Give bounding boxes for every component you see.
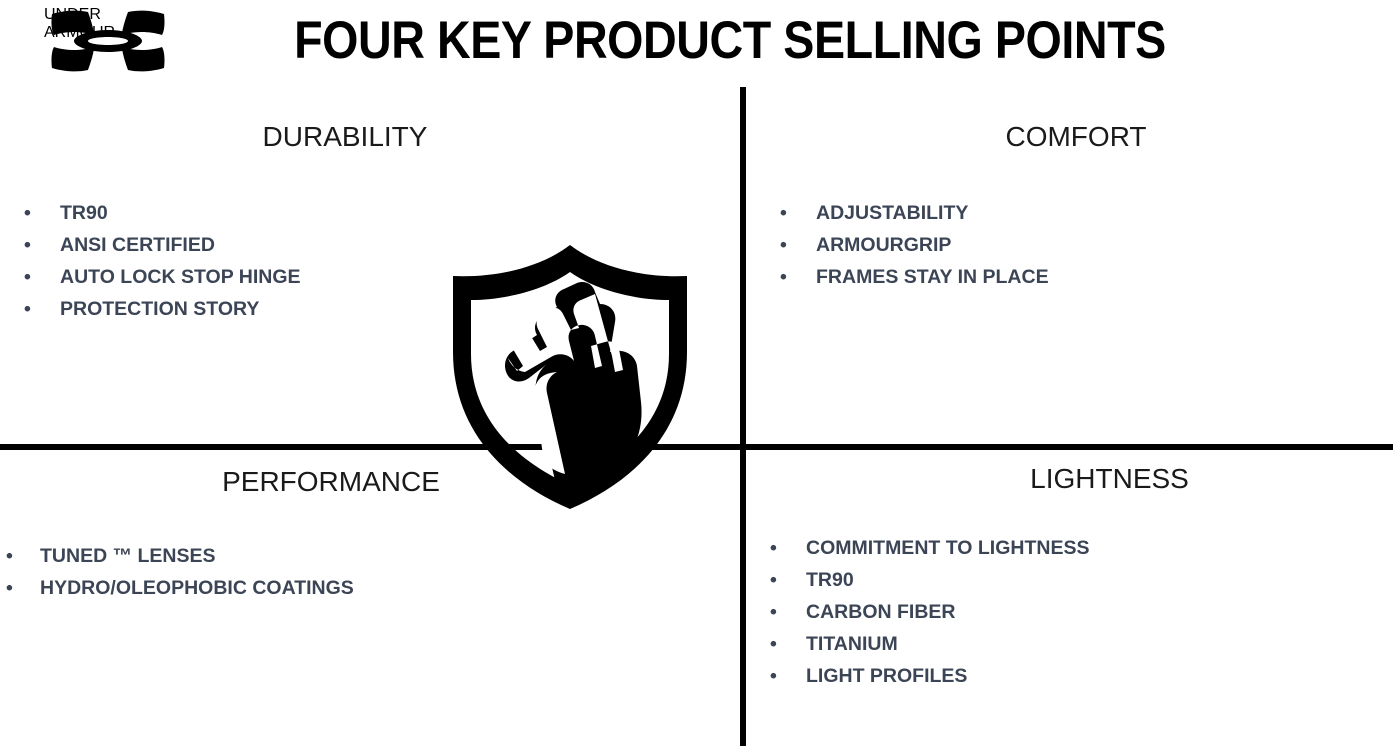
- under-armour-monogram-icon: [44, 6, 172, 76]
- quadrant-heading-durability: DURABILITY: [0, 120, 690, 154]
- page-title: FOUR KEY PRODUCT SELLING POINTS: [264, 8, 1197, 74]
- list-item: TR90: [0, 197, 301, 229]
- list-item: PROTECTION STORY: [0, 293, 301, 325]
- quadrant-durability: DURABILITY TR90 ANSI CERTIFIED AUTO LOCK…: [0, 92, 740, 444]
- list-item: AUTO LOCK STOP HINGE: [0, 261, 301, 293]
- bullet-list-performance: TUNED ™ LENSES HYDRO/OLEOPHOBIC COATINGS: [0, 540, 354, 604]
- list-item: TUNED ™ LENSES: [0, 540, 354, 572]
- list-item: ARMOURGRIP: [756, 229, 1049, 261]
- bullet-list-durability: TR90 ANSI CERTIFIED AUTO LOCK STOP HINGE…: [0, 197, 301, 325]
- list-item: TITANIUM: [746, 628, 1089, 660]
- bullet-list-comfort: ADJUSTABILITY ARMOURGRIP FRAMES STAY IN …: [756, 197, 1049, 293]
- slide-canvas: UNDER ARMOUR. FOUR KEY PRODUCT SELLING P…: [0, 0, 1393, 746]
- quadrant-heading-comfort: COMFORT: [746, 120, 1393, 154]
- list-item: ANSI CERTIFIED: [0, 229, 301, 261]
- quadrant-heading-performance: PERFORMANCE: [0, 465, 662, 499]
- list-item: ADJUSTABILITY: [756, 197, 1049, 229]
- quadrant-performance: PERFORMANCE TUNED ™ LENSES HYDRO/OLEOPHO…: [0, 450, 740, 746]
- list-item: FRAMES STAY IN PLACE: [756, 261, 1049, 293]
- quadrant-comfort: COMFORT ADJUSTABILITY ARMOURGRIP FRAMES …: [746, 92, 1393, 444]
- under-armour-logo: UNDER ARMOUR.: [44, 6, 172, 98]
- list-item: LIGHT PROFILES: [746, 660, 1089, 692]
- quadrant-heading-lightness: LIGHTNESS: [746, 462, 1393, 496]
- list-item: HYDRO/OLEOPHOBIC COATINGS: [0, 572, 354, 604]
- quadrant-lightness: LIGHTNESS COMMITMENT TO LIGHTNESS TR90 C…: [746, 450, 1393, 746]
- list-item: TR90: [746, 564, 1089, 596]
- list-item: COMMITMENT TO LIGHTNESS: [746, 532, 1089, 564]
- list-item: CARBON FIBER: [746, 596, 1089, 628]
- bullet-list-lightness: COMMITMENT TO LIGHTNESS TR90 CARBON FIBE…: [746, 532, 1089, 692]
